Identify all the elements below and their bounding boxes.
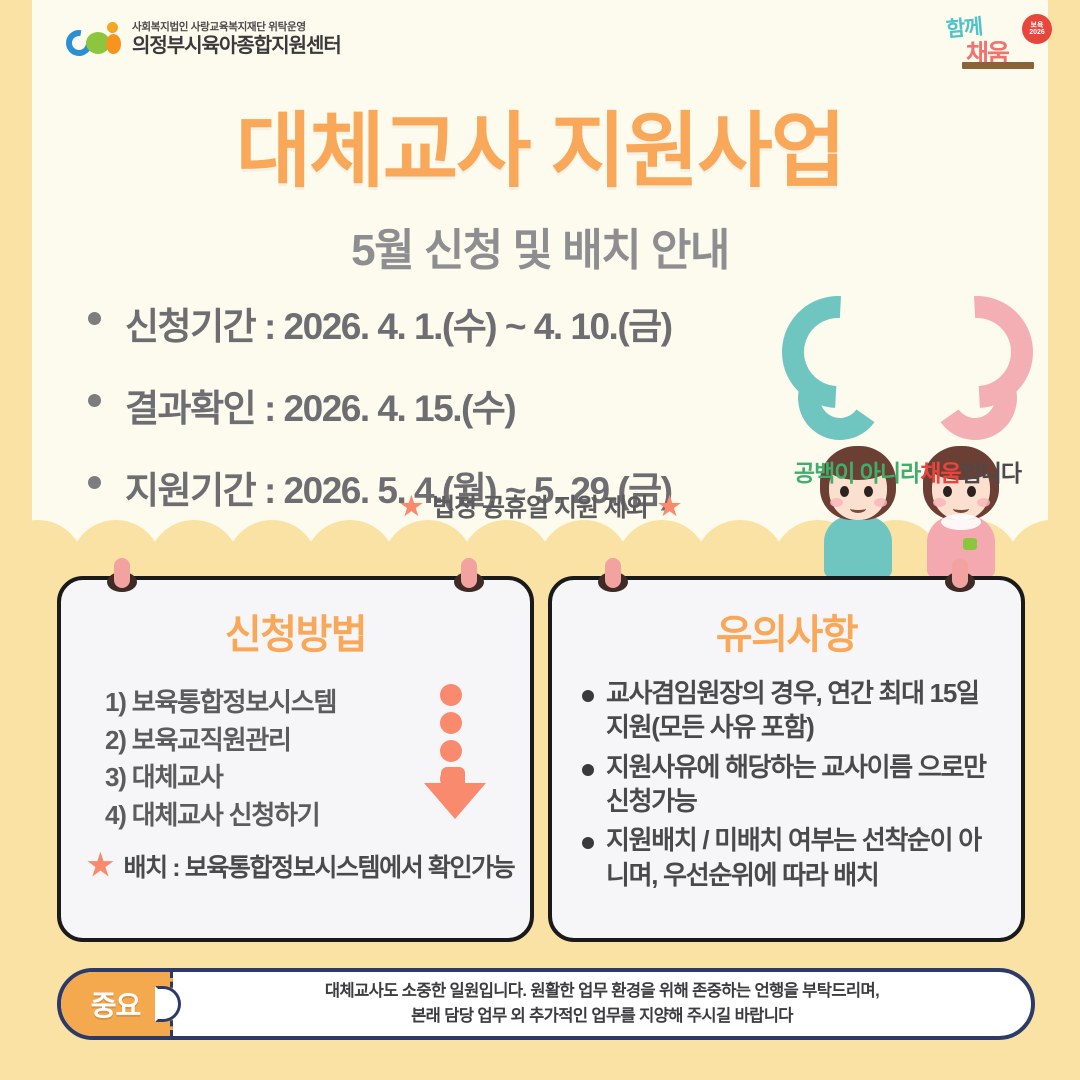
bullet-dot-icon — [582, 837, 594, 849]
pushpin-icon — [107, 562, 137, 592]
list-item: 지원사유에 해당하는 교사이름 으로만 신청가능 — [582, 750, 1002, 819]
list-item: 2) 보육교직원관리 — [105, 722, 336, 760]
caution-notes-list: 교사겸임원장의 경우, 연간 최대 15일 지원(모든 사유 포함) 지원사유에… — [582, 676, 1002, 897]
campaign-logo-underbar — [962, 62, 1034, 69]
page-title: 대체교사 지원사업 — [0, 84, 1080, 203]
apply-note-text: 배치 : 보육통합정보시스템에서 확인가능 — [124, 848, 515, 884]
org-logo: 사회복지법인 사랑교육복지재단 위탁운영 의정부시육아종합지원센터 — [66, 14, 366, 66]
footer-banner: 중요 대체교사도 소중한 일원입니다. 원활한 업무 환경을 위해 존중하는 언… — [57, 968, 1035, 1040]
footer-message: 대체교사도 소중한 일원입니다. 원활한 업무 환경을 위해 존중하는 언행을 … — [173, 979, 1031, 1029]
bullet-dot-icon — [582, 690, 594, 702]
tagline-part3: 입니다 — [961, 460, 1021, 486]
campaign-stamp-icon: 보육 2026 — [1022, 14, 1052, 44]
bullet-dot-icon — [582, 764, 594, 776]
poster-root: 사회복지법인 사랑교육복지재단 위탁운영 의정부시육아종합지원센터 함께 채움 … — [0, 0, 1080, 1080]
caution-card-title: 유의사항 — [552, 602, 1021, 660]
star-icon: ★ — [658, 493, 680, 519]
heart-hands-illustration: 공백이 아니라채움입니다 — [780, 288, 1035, 488]
page-subtitle: 5월 신청 및 배치 안내 — [0, 214, 1080, 278]
star-icon: ★ — [400, 493, 422, 519]
org-logo-mainline: 의정부시육아종합지원센터 — [132, 34, 341, 59]
pushpin-icon — [598, 562, 628, 592]
list-item: 신청기간 : 2026. 4. 1.(수) ~ 4. 10.(금) — [88, 296, 788, 350]
tagline-part2: 채움 — [920, 460, 960, 486]
caution-note-1: 교사겸임원장의 경우, 연간 최대 15일 지원(모든 사유 포함) — [606, 676, 1002, 745]
schedule-result-date: 결과확인 : 2026. 4. 15.(수) — [125, 378, 515, 432]
pushpin-icon — [945, 562, 975, 592]
caution-note-2: 지원사유에 해당하는 교사이름 으로만 신청가능 — [606, 750, 1002, 819]
org-logo-subline: 사회복지법인 사랑교육복지재단 위탁운영 — [132, 21, 341, 34]
list-item: 지원배치 / 미배치 여부는 선착순이 아니며, 우선순위에 따라 배치 — [582, 823, 1002, 892]
schedule-apply-period: 신청기간 : 2026. 4. 1.(수) ~ 4. 10.(금) — [125, 296, 672, 350]
caution-card: 유의사항 교사겸임원장의 경우, 연간 최대 15일 지원(모든 사유 포함) … — [548, 576, 1025, 942]
list-item: 4) 대체교사 신청하기 — [105, 797, 336, 835]
holiday-note-text: 법정 공휴일 지원 제외 — [432, 488, 648, 524]
list-item: 3) 대체교사 — [105, 759, 336, 797]
tagline-part1: 공백이 아니라 — [794, 460, 920, 486]
list-item: 1) 보육통합정보시스템 — [105, 684, 336, 722]
bullet-dot-icon — [88, 312, 101, 325]
illustration-tagline: 공백이 아니라채움입니다 — [780, 454, 1035, 488]
list-item: 결과확인 : 2026. 4. 15.(수) — [88, 378, 788, 432]
apply-method-card: 신청방법 1) 보육통합정보시스템 2) 보육교직원관리 3) 대체교사 4) … — [57, 576, 534, 942]
important-badge: 중요 — [61, 972, 173, 1036]
apply-card-title: 신청방법 — [61, 602, 530, 660]
campaign-logo: 함께 채움 보육 2026 — [944, 8, 1052, 70]
pushpin-icon — [454, 562, 484, 592]
apply-card-note: ★ 배치 : 보육통합정보시스템에서 확인가능 — [87, 848, 514, 884]
sci-logo-icon — [66, 20, 124, 60]
holiday-exclusion-note: ★ 법정 공휴일 지원 제외 ★ — [0, 488, 1080, 524]
star-icon: ★ — [87, 851, 113, 881]
footer-line-2: 본래 담당 업무 외 추가적인 업무를 지양해 주시길 바랍니다 — [187, 1004, 1017, 1029]
apply-steps-list: 1) 보육통합정보시스템 2) 보육교직원관리 3) 대체교사 4) 대체교사 … — [105, 684, 336, 835]
caution-note-3: 지원배치 / 미배치 여부는 선착순이 아니며, 우선순위에 따라 배치 — [606, 823, 1002, 892]
down-arrow-icon — [422, 684, 484, 819]
bullet-dot-icon — [88, 394, 101, 407]
footer-line-1: 대체교사도 소중한 일원입니다. 원활한 업무 환경을 위해 존중하는 언행을 … — [187, 979, 1017, 1004]
list-item: 교사겸임원장의 경우, 연간 최대 15일 지원(모든 사유 포함) — [582, 676, 1002, 745]
